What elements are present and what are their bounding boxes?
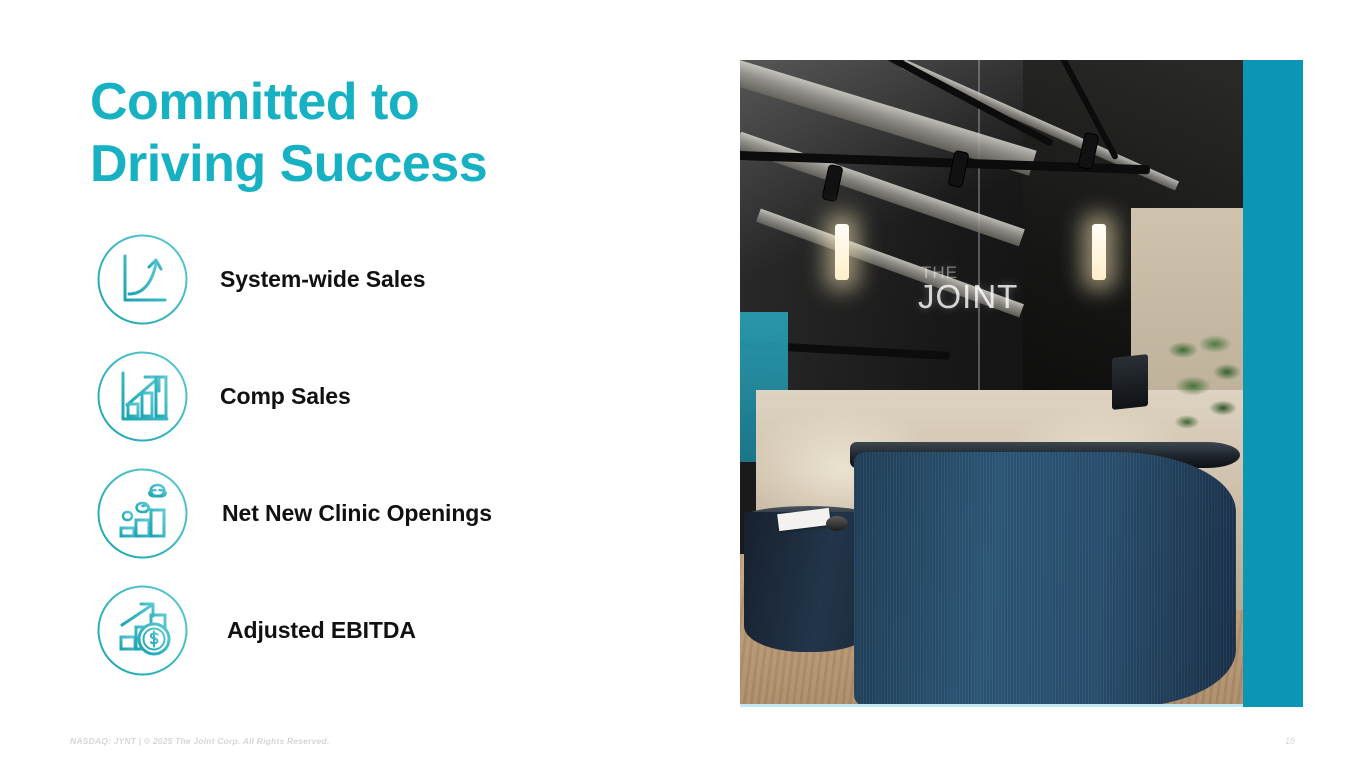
potted-plant — [1165, 328, 1243, 458]
bar-chart-dollar-coin-icon — [95, 583, 190, 678]
monitor — [1112, 354, 1148, 410]
list-item[interactable]: Adjusted EBITDA — [95, 583, 715, 678]
slide-root: Committed to Driving Success System-w — [0, 0, 1365, 768]
list-item[interactable]: Net New Clinic Openings — [95, 466, 715, 561]
desk-object — [826, 516, 848, 531]
photo-block: THE JOINT — [740, 60, 1303, 707]
list-item-label: System-wide Sales — [220, 266, 425, 294]
footer-legal: NASDAQ: JYNT | © 2025 The Joint Corp. Al… — [70, 736, 329, 746]
list-item[interactable]: Comp Sales — [95, 349, 715, 444]
reception-desk — [854, 452, 1236, 707]
bar-chart-arrow-icon — [95, 349, 190, 444]
bullet-list: System-wide Sales — [95, 232, 715, 678]
page-title: Committed to Driving Success — [90, 72, 710, 196]
page-number: 18 — [1285, 736, 1295, 746]
clinic-reception-photo: THE JOINT — [740, 60, 1243, 707]
list-item[interactable]: System-wide Sales — [95, 232, 715, 327]
wall-sconce — [1092, 224, 1106, 280]
growing-plants-bars-icon — [95, 466, 190, 561]
teal-accent-bar — [1243, 60, 1303, 707]
list-item-label: Net New Clinic Openings — [222, 500, 492, 528]
list-item-label: Adjusted EBITDA — [227, 617, 416, 645]
wall-sconce — [835, 224, 849, 280]
line-chart-growth-icon — [95, 232, 190, 327]
wall-logo-joint: JOINT — [918, 278, 1018, 316]
list-item-label: Comp Sales — [220, 383, 351, 411]
